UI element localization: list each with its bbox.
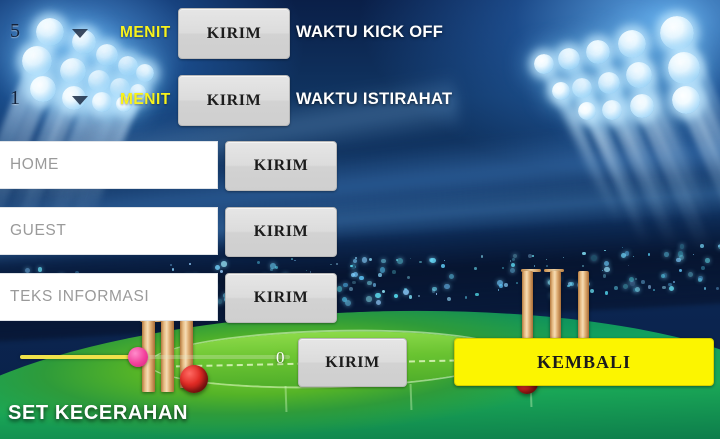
ui-layer: 5 MENIT KIRIM WAKTU KICK OFF 1 MENIT KIR… (0, 0, 720, 439)
home-send-button[interactable]: KIRIM (225, 141, 337, 191)
halftime-unit-label: MENIT (120, 91, 171, 109)
kickoff-send-button[interactable]: KIRIM (178, 8, 290, 59)
chevron-down-icon[interactable] (72, 96, 88, 105)
kickoff-unit-label: MENIT (120, 24, 171, 42)
brightness-slider-thumb[interactable] (128, 347, 148, 367)
halftime-description: WAKTU ISTIRAHAT (296, 90, 452, 109)
brightness-slider-track-filled[interactable] (20, 355, 138, 359)
brightness-send-button[interactable]: KIRIM (298, 338, 407, 387)
chevron-down-icon[interactable] (72, 29, 88, 38)
guest-send-button[interactable]: KIRIM (225, 207, 337, 257)
kickoff-description: WAKTU KICK OFF (296, 23, 443, 42)
kickoff-minutes-value[interactable]: 5 (10, 20, 20, 43)
app-root: 5 MENIT KIRIM WAKTU KICK OFF 1 MENIT KIR… (0, 0, 720, 439)
home-team-input[interactable]: HOME (0, 141, 218, 189)
guest-team-input[interactable]: GUEST (0, 207, 218, 255)
halftime-minutes-value[interactable]: 1 (10, 87, 20, 110)
brightness-value: 0 (276, 348, 285, 368)
info-text-input[interactable]: TEKS INFORMASI (0, 273, 218, 321)
info-send-button[interactable]: KIRIM (225, 273, 337, 323)
back-button[interactable]: KEMBALI (454, 338, 714, 386)
halftime-send-button[interactable]: KIRIM (178, 75, 290, 126)
brightness-slider-track-remaining[interactable] (138, 355, 290, 359)
page-title: SET KECERAHAN (8, 402, 188, 425)
